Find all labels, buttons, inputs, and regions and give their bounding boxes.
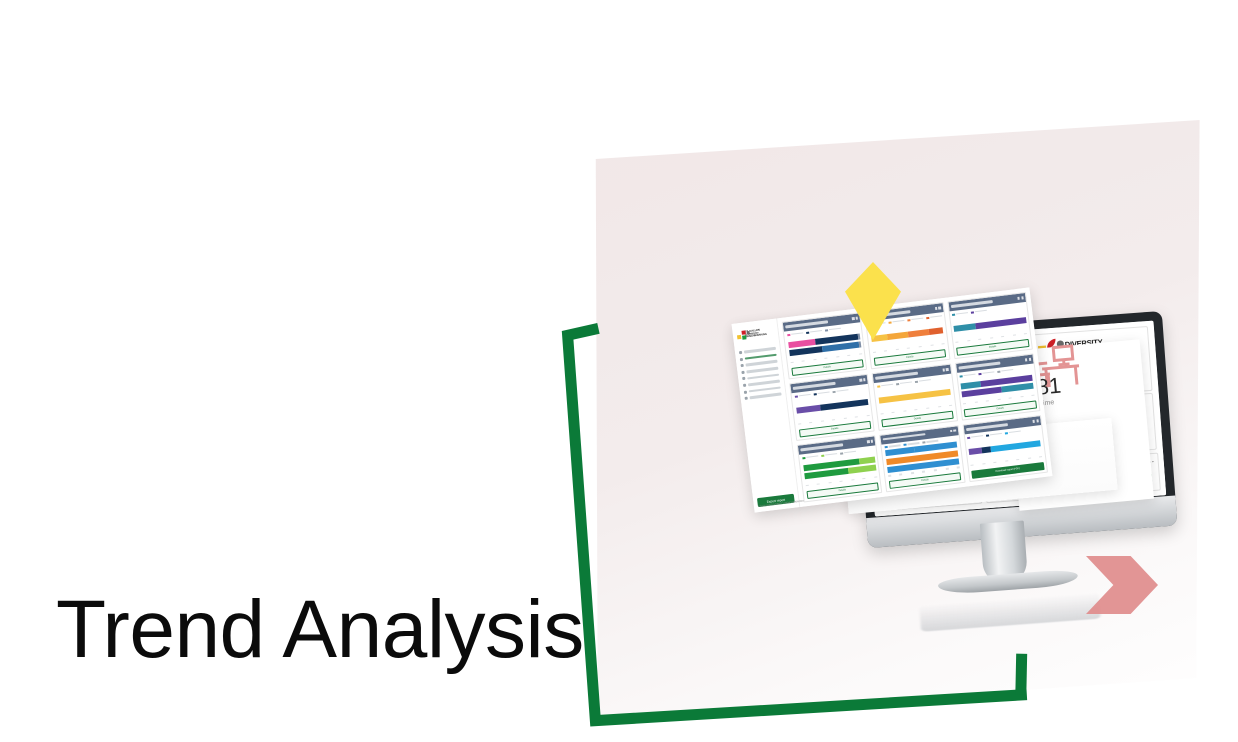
axis-tick — [899, 473, 902, 475]
axis-tick — [855, 416, 858, 418]
sidebar-logo: ST. GALLEN DIVERSITY BENCHMARKING — [736, 324, 775, 344]
axis-tick — [971, 465, 974, 467]
tile-actions[interactable] — [942, 368, 948, 371]
chart-bar-segment — [820, 399, 868, 411]
nav-bullet-icon — [744, 390, 747, 393]
dashboard-tile[interactable]: Details — [879, 425, 965, 492]
axis-tick — [956, 341, 959, 343]
axis-tick — [915, 409, 918, 411]
chart-bar — [871, 327, 944, 342]
chart-bar-segment — [859, 456, 876, 464]
tile-actions[interactable] — [1033, 420, 1039, 423]
chart-bar-segment — [990, 440, 1041, 452]
axis-tick — [911, 472, 914, 474]
sidebar-logo-glyph — [736, 330, 745, 342]
axis-tick — [896, 349, 899, 351]
axis-tick — [844, 418, 847, 420]
expand-icon[interactable] — [1021, 297, 1023, 299]
axis-tick — [934, 469, 937, 471]
axis-tick — [884, 350, 887, 352]
axis-tick — [963, 403, 966, 405]
sidebar-item-settings[interactable] — [745, 393, 782, 400]
axis-tick — [919, 346, 922, 348]
axis-tick — [945, 468, 948, 470]
axis-tick — [873, 352, 876, 354]
axis-tick — [1001, 336, 1004, 338]
axis-tick — [798, 423, 801, 425]
chart-bar — [969, 440, 1042, 455]
dashboard-tile-grid: DetailsDetailsDetailsDetailsDetailsDetai… — [777, 287, 1052, 507]
tile-actions[interactable] — [935, 307, 941, 310]
axis-tick — [828, 482, 831, 484]
tile-actions[interactable] — [1018, 297, 1024, 300]
expand-icon[interactable] — [946, 368, 948, 370]
chart-bar-segment — [962, 387, 1002, 398]
chart-bar-segment — [928, 327, 943, 335]
axis-tick — [847, 355, 850, 357]
axis-tick — [821, 420, 824, 422]
axis-tick — [1005, 460, 1008, 462]
chart-bar-segment — [975, 317, 1026, 329]
axis-tick — [825, 358, 828, 360]
chart-bar-segment — [969, 447, 983, 455]
expand-icon[interactable] — [1036, 420, 1038, 422]
chart-bar-segment — [822, 342, 860, 353]
tile-actions[interactable] — [950, 430, 956, 433]
dashboard-tile[interactable]: Details — [955, 353, 1041, 420]
axis-tick — [930, 345, 933, 347]
expand-icon[interactable] — [938, 307, 940, 309]
axis-tick — [874, 476, 877, 478]
axis-tick — [907, 347, 910, 349]
tile-actions[interactable] — [852, 317, 858, 320]
axis-tick — [1024, 333, 1027, 335]
chart-bar-segment — [887, 331, 909, 340]
axis-tick — [805, 485, 808, 487]
axis-tick — [840, 481, 843, 483]
axis-tick — [1009, 397, 1012, 399]
chart-bar-segment — [954, 323, 976, 332]
dashboard-tile[interactable]: Download report (PDF) — [962, 415, 1048, 482]
axis-tick — [957, 466, 960, 468]
dashboard-tile[interactable]: Details — [797, 435, 883, 502]
chart-bar-segment — [796, 405, 821, 414]
chart-bar-segment — [858, 333, 860, 339]
axis-tick — [986, 400, 989, 402]
dashboard-tile[interactable]: Details — [872, 364, 958, 431]
axis-tick — [817, 483, 820, 485]
axis-tick — [832, 419, 835, 421]
axis-tick — [978, 339, 981, 341]
axis-tick — [967, 340, 970, 342]
axis-tick — [813, 359, 816, 361]
axis-tick — [949, 405, 952, 407]
expand-icon[interactable] — [863, 378, 865, 380]
axis-tick — [1020, 396, 1023, 398]
axis-tick — [938, 406, 941, 408]
expand-icon[interactable] — [954, 430, 956, 432]
nav-bullet-icon — [741, 371, 744, 374]
chart-bar-segment — [908, 329, 929, 337]
chart-bar — [796, 399, 869, 414]
filter-icon[interactable] — [852, 317, 854, 319]
axis-tick — [975, 402, 978, 404]
dashboard-tile[interactable]: Details — [782, 312, 868, 379]
axis-tick — [888, 475, 891, 477]
filter-icon[interactable] — [1018, 297, 1020, 299]
axis-tick — [922, 471, 925, 473]
nav-bullet-icon — [740, 357, 743, 360]
chart-bar-segment — [848, 464, 876, 473]
axis-tick — [926, 408, 929, 410]
nav-bullet-icon — [741, 364, 744, 367]
axis-tick — [892, 412, 895, 414]
axis-tick — [903, 410, 906, 412]
axis-tick — [994, 462, 997, 464]
chart-bar-segment — [789, 346, 823, 356]
filter-icon[interactable] — [1033, 420, 1035, 422]
filter-icon[interactable] — [867, 440, 869, 442]
tile-actions[interactable] — [1025, 358, 1031, 361]
axis-tick — [1016, 459, 1019, 461]
axis-tick — [1039, 456, 1042, 458]
chart-bar-segment — [1001, 383, 1034, 393]
filter-icon[interactable] — [860, 379, 862, 381]
axis-tick — [990, 337, 993, 339]
axis-tick — [809, 422, 812, 424]
axis-tick — [942, 343, 945, 345]
expand-icon[interactable] — [871, 440, 873, 442]
axis-tick — [836, 356, 839, 358]
dashboard-tile[interactable]: Details — [789, 374, 875, 441]
filter-icon[interactable] — [1025, 359, 1027, 361]
nav-bullet-icon — [739, 351, 742, 354]
composition-stage: Trend Analysis — [0, 0, 1238, 742]
axis-tick — [790, 362, 793, 364]
axis-tick — [1013, 334, 1016, 336]
axis-tick — [1028, 457, 1031, 459]
nav-bullet-icon — [745, 397, 748, 400]
chart-bar-segment — [961, 381, 982, 389]
axis-tick — [866, 415, 869, 417]
page-title: Trend Analysis — [56, 589, 584, 671]
filter-icon[interactable] — [942, 369, 944, 371]
chart-bar-segment — [878, 389, 951, 404]
sidebar-nav — [739, 347, 782, 400]
expand-icon[interactable] — [856, 317, 858, 319]
axis-tick — [863, 478, 866, 480]
tile-actions[interactable] — [867, 440, 873, 443]
expand-icon[interactable] — [1029, 358, 1031, 360]
filter-icon[interactable] — [935, 307, 937, 309]
axis-tick — [997, 399, 1000, 401]
chart-bar-segment — [859, 341, 861, 347]
axis-tick — [1032, 395, 1035, 397]
nav-bullet-icon — [743, 384, 746, 387]
nav-bullet-icon — [742, 377, 745, 380]
axis-tick — [851, 479, 854, 481]
axis-tick — [859, 353, 862, 355]
dashboard-tile[interactable]: Details — [947, 292, 1033, 359]
dashboard-screenshot: ST. GALLEN DIVERSITY BENCHMARKING Export… — [732, 287, 1053, 512]
tile-actions[interactable] — [860, 378, 866, 381]
chart-bar — [954, 317, 1027, 332]
axis-tick — [982, 463, 985, 465]
filter-icon[interactable] — [950, 430, 952, 432]
chart-bar — [878, 389, 951, 404]
axis-tick — [802, 360, 805, 362]
axis-tick — [880, 413, 883, 415]
